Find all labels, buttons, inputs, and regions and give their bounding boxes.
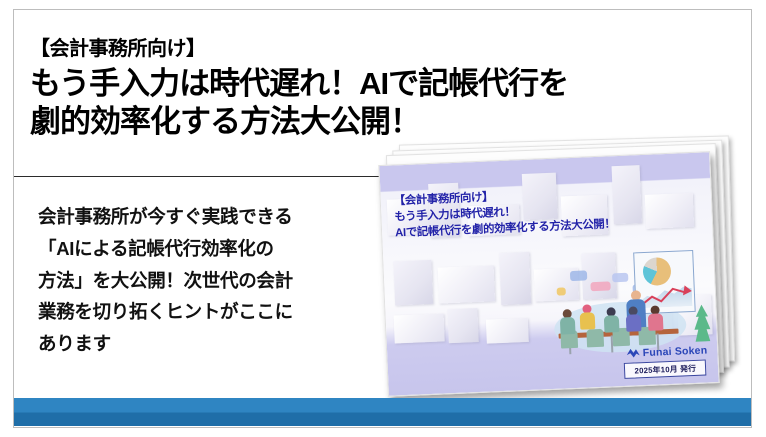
publication-date-badge: 2025年10月 発行 [624, 360, 706, 379]
funai-soken-mark-icon [627, 348, 640, 360]
slide-canvas: 【会計事務所向け】 もう手入力は時代遅れ！AIで記帳代行を 劇的効率化する方法大… [0, 0, 766, 437]
page-title: もう手入力は時代遅れ！AIで記帳代行を 劇的効率化する方法大公開！ [30, 65, 730, 141]
body-line-4: 業務を切り拓くヒントがここに [38, 296, 383, 328]
headline-line-2: 劇的効率化する方法大公開！ [30, 103, 730, 141]
attendee-figure [625, 306, 641, 332]
title-divider [14, 176, 389, 177]
attendee-figure [559, 309, 575, 335]
cover-background: 【会計事務所向け】 もう手入力は時代遅れ！ AIで記帳代行を劇的効率化する方法大… [379, 152, 718, 396]
attendee-figure [579, 304, 595, 330]
body-line-5: あります [38, 328, 383, 360]
plant-decoration [693, 304, 711, 345]
document-cover-page: 【会計事務所向け】 もう手入力は時代遅れ！ AIで記帳代行を劇的効率化する方法大… [378, 151, 719, 397]
title-eyebrow: 【会計事務所向け】 [30, 38, 730, 61]
headline-line-1: もう手入力は時代遅れ！AIで記帳代行を [30, 65, 730, 103]
attendee-figure [647, 305, 663, 331]
body-paragraph: 会計事務所が今すぐ実践できる 「AIによる記帳代行効率化の 方法」を大公開！次世… [38, 201, 383, 360]
body-line-2: 「AIによる記帳代行効率化の [38, 233, 383, 265]
title-block: 【会計事務所向け】 もう手入力は時代遅れ！AIで記帳代行を 劇的効率化する方法大… [30, 38, 730, 141]
document-preview-stack: 【会計事務所向け】 もう手入力は時代遅れ！ AIで記帳代行を劇的効率化する方法大… [380, 140, 752, 398]
body-line-1: 会計事務所が今すぐ実践できる [38, 201, 383, 233]
attendee-figure [603, 307, 619, 333]
body-line-3: 方法」を大公開！次世代の会計 [38, 265, 383, 297]
bottom-accent-bar [14, 398, 751, 426]
